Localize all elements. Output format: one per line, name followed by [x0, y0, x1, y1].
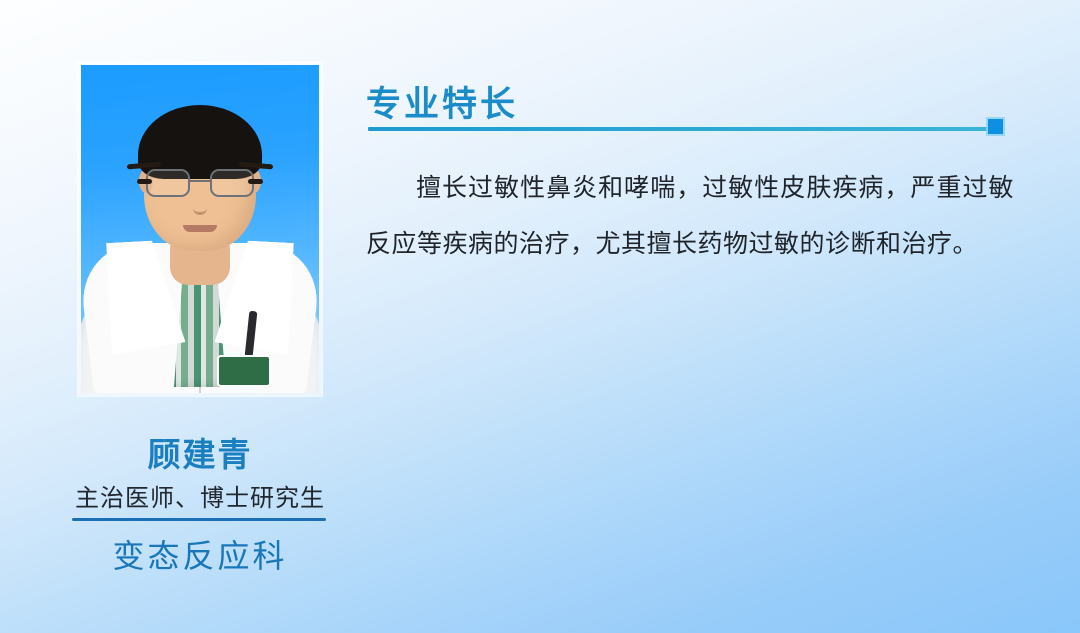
- doctor-photo-frame: [78, 62, 322, 396]
- profile-column: 顾建青 主治医师、博士研究生 变态反应科: [0, 0, 400, 633]
- profile-divider: [72, 518, 326, 521]
- portrait-eye-left: [137, 179, 152, 184]
- glasses-lens-right: [210, 169, 254, 197]
- glasses-lens-left: [146, 169, 190, 197]
- section-heading-rule: [368, 127, 990, 131]
- section-heading: 专业特长: [366, 76, 518, 127]
- portrait-nose: [193, 197, 207, 215]
- portrait-name-badge: [219, 357, 269, 385]
- portrait-eye-right: [248, 179, 263, 184]
- doctor-department: 变态反应科: [0, 531, 400, 577]
- portrait-hair: [138, 105, 262, 179]
- portrait-glasses: [146, 169, 254, 197]
- portrait-mouth: [183, 225, 217, 232]
- doctor-name: 顾建青: [0, 428, 400, 476]
- section-accent-square: [988, 119, 1003, 134]
- section-body-text: 擅长过敏性鼻炎和哮喘，过敏性皮肤疾病，严重过敏反应等疾病的治疗，尤其擅长药物过敏…: [366, 160, 1014, 272]
- glasses-bridge: [190, 180, 210, 182]
- doctor-profile-card: 顾建青 主治医师、博士研究生 变态反应科 专业特长 擅长过敏性鼻炎和哮喘，过敏性…: [0, 0, 1080, 633]
- doctor-title: 主治医师、博士研究生: [0, 478, 400, 513]
- doctor-portrait-photo: [81, 65, 319, 393]
